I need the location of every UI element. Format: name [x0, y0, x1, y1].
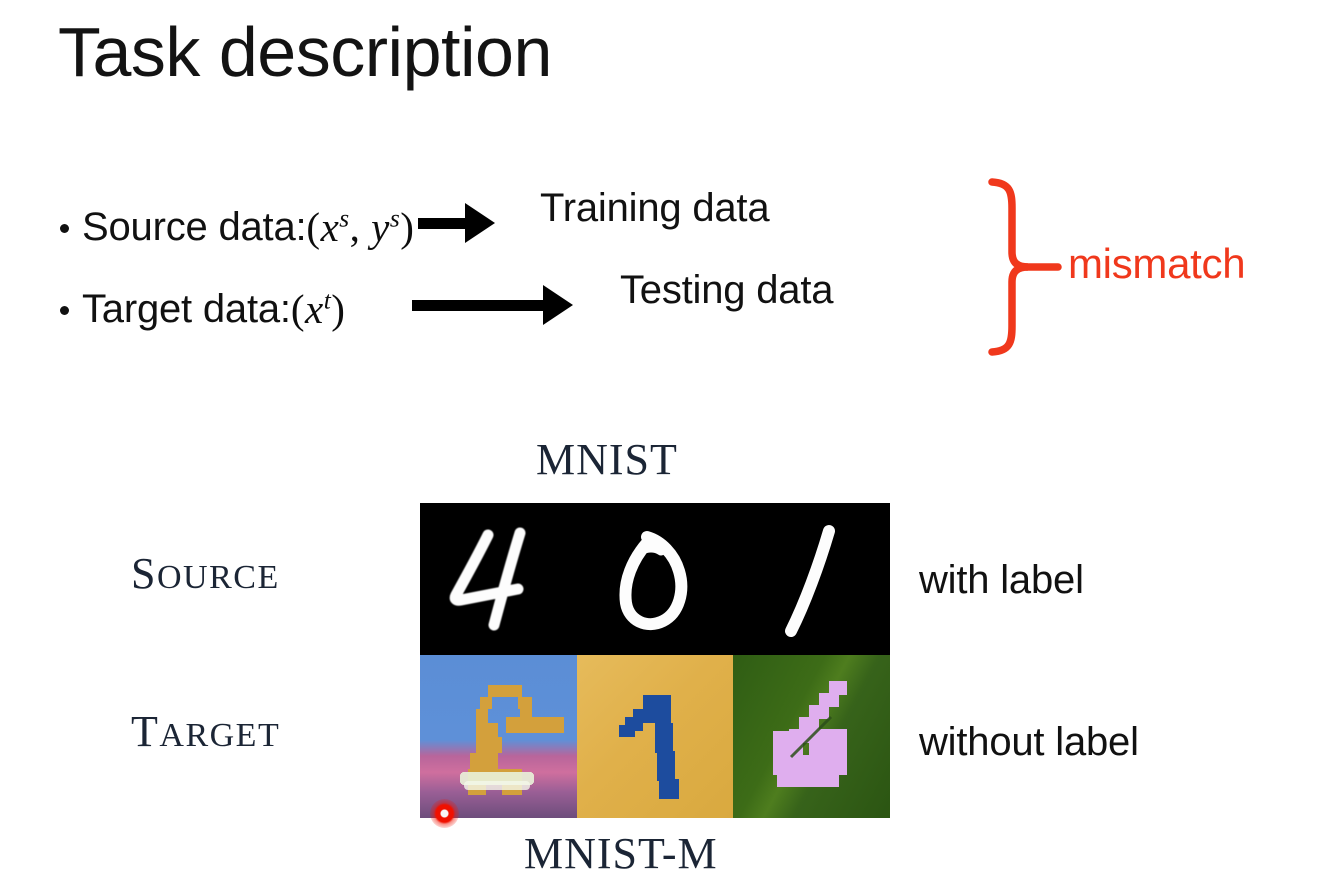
mismatch-label: mismatch	[1068, 240, 1245, 288]
list-item: Source data: (xs, ys) Training data	[60, 186, 1020, 268]
mnist-m-caption: MNIST-M	[524, 828, 718, 879]
mnist-m-sample-cell	[733, 655, 890, 818]
arrow-head	[543, 285, 573, 325]
source-note-with-label: with label	[919, 558, 1084, 603]
right-arrow-long-icon	[412, 285, 573, 325]
handwritten-digit-4	[420, 503, 577, 655]
bullet-dot-icon	[60, 306, 69, 315]
mnist-m-sample-cell	[577, 655, 734, 818]
handwritten-digit-0	[577, 503, 734, 655]
source-data-math: (xs, ys)	[306, 203, 414, 251]
training-data-label: Training data	[540, 186, 769, 231]
slide-canvas: Task description Source data: (xs, ys) T…	[0, 0, 1338, 885]
target-data-label: Target data:	[82, 287, 291, 332]
blended-digit-1	[577, 655, 734, 818]
right-arrow-icon	[418, 203, 495, 243]
mnist-sample-cell	[577, 503, 734, 655]
blended-digit-8	[420, 655, 577, 818]
testing-data-label: Testing data	[620, 268, 833, 313]
blended-digit-4	[733, 655, 890, 818]
page-title: Task description	[58, 14, 552, 91]
handwritten-digit-1	[733, 503, 890, 655]
list-item: Target data: (xt) Testing data	[60, 268, 1020, 350]
arrow-shaft	[412, 300, 544, 311]
bullet-list: Source data: (xs, ys) Training data Targ…	[60, 186, 1020, 350]
mnist-m-sample-cell	[420, 655, 577, 818]
red-click-marker-icon	[430, 799, 459, 828]
row-label-target: TARGET	[131, 706, 280, 757]
mnist-caption: MNIST	[536, 434, 678, 485]
bullet-dot-icon	[60, 224, 69, 233]
dataset-sample-grid	[420, 503, 890, 818]
target-note-without-label: without label	[919, 720, 1139, 765]
mnist-sample-cell	[733, 503, 890, 655]
mnist-source-row	[420, 503, 890, 655]
source-data-label: Source data:	[82, 205, 306, 250]
row-label-source: SOURCE	[131, 548, 280, 599]
mnist-m-target-row	[420, 655, 890, 818]
mnist-sample-cell	[420, 503, 577, 655]
target-data-math: (xt)	[291, 285, 346, 333]
arrow-head	[465, 203, 495, 243]
arrow-shaft	[418, 218, 466, 229]
right-curly-brace-icon	[986, 178, 1076, 356]
mismatch-brace	[986, 178, 1076, 361]
